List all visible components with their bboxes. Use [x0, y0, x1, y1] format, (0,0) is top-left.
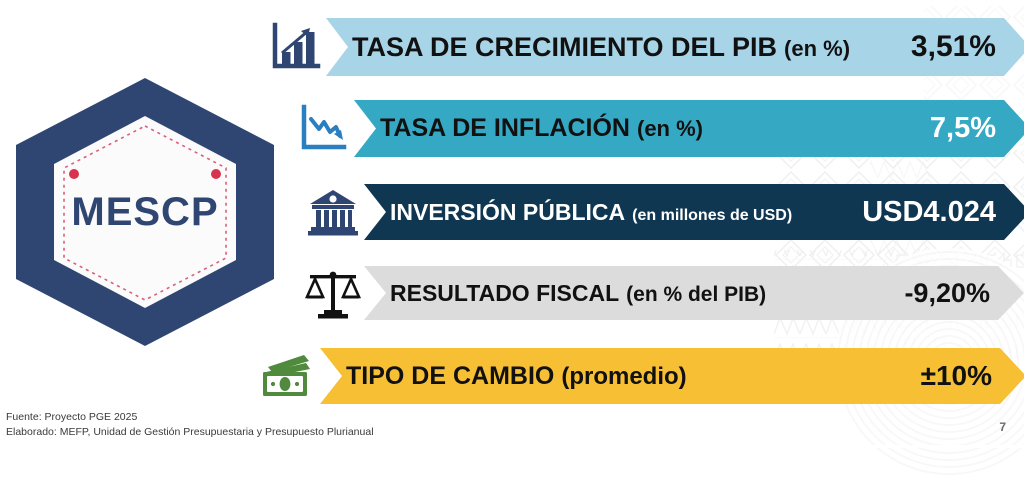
indicator-value: -9,20%	[904, 278, 1024, 309]
indicator-unit: (en millones de USD)	[632, 207, 792, 225]
indicator-text-group: TASA DE CRECIMIENTO DEL PIB (en %)	[352, 32, 850, 63]
indicator-unit: (en %)	[784, 36, 850, 62]
indicator-text-group: TASA DE INFLACIÓN (en %)	[380, 114, 703, 143]
footer-prepared-by-line: Elaborado: MEFP, Unidad de Gestión Presu…	[6, 425, 374, 440]
bar-chart-growth-icon	[264, 16, 326, 78]
footer-source-note: Fuente: Proyecto PGE 2025 Elaborado: MEF…	[6, 410, 374, 440]
indicator-label: INVERSIÓN PÚBLICA	[390, 199, 625, 226]
indicator-text-group: TIPO DE CAMBIO (promedio)	[346, 362, 687, 391]
indicator-label: TASA DE INFLACIÓN	[380, 114, 630, 143]
mescp-logo: MESCP	[16, 78, 274, 346]
declining-line-chart-icon	[292, 98, 354, 160]
indicator-banner-inflation: TASA DE INFLACIÓN (en %) 7,5%	[354, 100, 1024, 157]
indicator-banner-fiscal-result: RESULTADO FISCAL (en % del PIB) -9,20%	[364, 266, 1024, 320]
indicator-label: TIPO DE CAMBIO	[346, 362, 554, 391]
indicator-row-public-investment[interactable]: INVERSIÓN PÚBLICA (en millones de USD) U…	[302, 184, 1024, 240]
indicator-text-group: INVERSIÓN PÚBLICA (en millones de USD)	[390, 199, 792, 226]
indicator-row-gdp-growth[interactable]: TASA DE CRECIMIENTO DEL PIB (en %) 3,51%	[264, 18, 1024, 76]
indicator-value: ±10%	[921, 360, 1024, 392]
indicator-row-exchange-rate[interactable]: TIPO DE CAMBIO (promedio) ±10%	[258, 348, 1024, 404]
indicator-unit: (en %)	[637, 116, 703, 142]
bank-building-icon	[302, 181, 364, 243]
indicator-value: USD4.024	[862, 196, 1024, 229]
indicator-value: 3,51%	[911, 30, 1024, 64]
indicator-label: TASA DE CRECIMIENTO DEL PIB	[352, 32, 777, 63]
indicator-unit: (promedio)	[561, 363, 686, 391]
indicator-label: RESULTADO FISCAL	[390, 280, 619, 307]
logo-text: MESCP	[16, 78, 274, 346]
indicator-row-fiscal-result[interactable]: RESULTADO FISCAL (en % del PIB) -9,20%	[302, 266, 1024, 320]
indicator-row-inflation[interactable]: TASA DE INFLACIÓN (en %) 7,5%	[292, 100, 1024, 157]
indicator-banner-public-investment: INVERSIÓN PÚBLICA (en millones de USD) U…	[364, 184, 1024, 240]
indicator-banner-exchange-rate: TIPO DE CAMBIO (promedio) ±10%	[320, 348, 1024, 404]
indicator-value: 7,5%	[930, 112, 1024, 145]
money-banknotes-icon	[258, 345, 320, 407]
indicator-unit: (en % del PIB)	[626, 283, 766, 307]
page-number: 7	[999, 420, 1006, 434]
balance-scales-icon	[302, 262, 364, 324]
indicator-banner-gdp-growth: TASA DE CRECIMIENTO DEL PIB (en %) 3,51%	[326, 18, 1024, 76]
indicator-list: TASA DE CRECIMIENTO DEL PIB (en %) 3,51%…	[262, 0, 1024, 448]
footer-source-line: Fuente: Proyecto PGE 2025	[6, 410, 374, 425]
indicator-text-group: RESULTADO FISCAL (en % del PIB)	[390, 280, 766, 307]
